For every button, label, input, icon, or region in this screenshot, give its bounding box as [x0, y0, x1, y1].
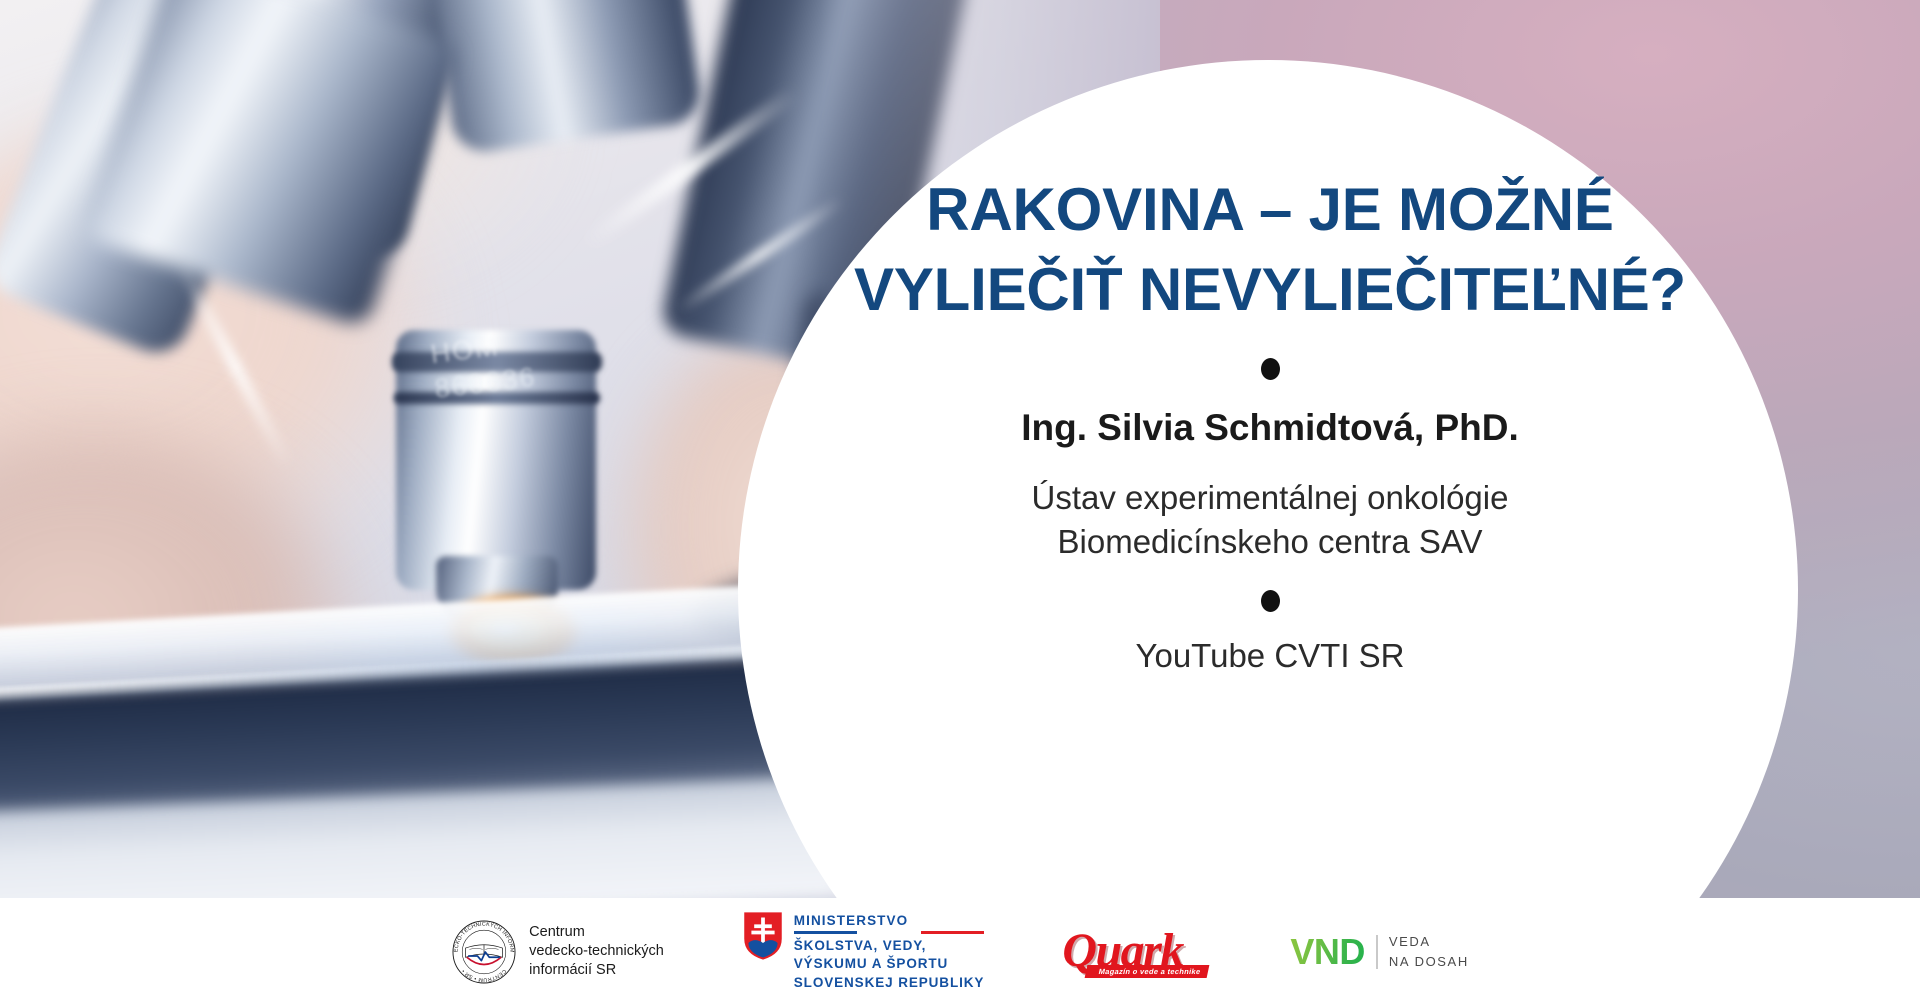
slide-content: RAKOVINA – JE MOŽNÉ VYLIEČIŤ NEVYLIEČITE… — [800, 170, 1740, 675]
ministry-text-line-3: VÝSKUMU A ŠPORTU — [794, 955, 985, 973]
bullet-separator-icon — [1261, 590, 1280, 612]
channel-label: YouTube CVTI SR — [800, 636, 1740, 676]
logo-veda-na-dosah: VND VEDA NA DOSAH — [1290, 931, 1469, 973]
cvti-text-line-2: vedecko-technických — [529, 942, 664, 961]
speaker-name: Ing. Silvia Schmidtová, PhD. — [800, 406, 1740, 450]
cvti-wordmark: Centrum vedecko-technických informácií S… — [529, 923, 664, 980]
logo-cvti-sr: VEDECKO-TECHNICKÝCH INFORMÁCIÍ CENTRUM •… — [451, 919, 664, 985]
cvti-seal-icon: VEDECKO-TECHNICKÝCH INFORMÁCIÍ CENTRUM •… — [451, 919, 517, 985]
quark-tagline: Magazín o vede a technike — [1091, 966, 1209, 978]
presentation-slide: НОМ 860636 RAKOVINA – JE MOŽNÉ VYLIEČIŤ … — [0, 0, 1920, 1005]
bullet-separator-icon — [1261, 358, 1280, 380]
vnd-subtitle-line-1: VEDA — [1389, 932, 1469, 952]
ministry-text-line-4: SLOVENSKEJ REPUBLIKY — [794, 974, 985, 992]
vnd-wordmark: VND — [1290, 931, 1365, 973]
svg-text:CENTRUM • SR •: CENTRUM • SR • — [461, 967, 507, 982]
vnd-divider — [1376, 935, 1378, 969]
title-line-1: RAKOVINA – JE MOŽNÉ — [926, 176, 1613, 243]
affiliation-line-1: Ústav experimentálnej onkológie — [800, 476, 1740, 520]
ministry-text-line-1: MINISTERSTVO — [794, 913, 985, 929]
vnd-subtitle: VEDA NA DOSAH — [1389, 932, 1469, 971]
logo-ministerstvo-skolstva: MINISTERSTVO ŠKOLSTVA, VEDY, VÝSKUMU A Š… — [742, 911, 985, 992]
slovak-coat-of-arms-icon — [742, 911, 784, 961]
footer-logo-bar: VEDECKO-TECHNICKÝCH INFORMÁCIÍ CENTRUM •… — [0, 898, 1920, 1005]
ministry-wordmark: MINISTERSTVO ŠKOLSTVA, VEDY, VÝSKUMU A Š… — [794, 911, 985, 992]
cvti-text-line-3: informácií SR — [529, 961, 664, 980]
logo-quark: Quark Magazín o vede a technike — [1062, 923, 1212, 981]
ministry-text-line-2: ŠKOLSTVA, VEDY, — [794, 937, 985, 955]
cvti-text-line-1: Centrum — [529, 923, 664, 942]
vnd-subtitle-line-2: NA DOSAH — [1389, 952, 1469, 972]
title-line-2: VYLIEČIŤ NEVYLIEČITEĽNÉ? — [800, 250, 1740, 330]
affiliation-line-2: Biomedicínskeho centra SAV — [800, 520, 1740, 564]
page-title: RAKOVINA – JE MOŽNÉ VYLIEČIŤ NEVYLIEČITE… — [800, 170, 1740, 330]
ministry-tricolor-rule — [794, 931, 985, 934]
